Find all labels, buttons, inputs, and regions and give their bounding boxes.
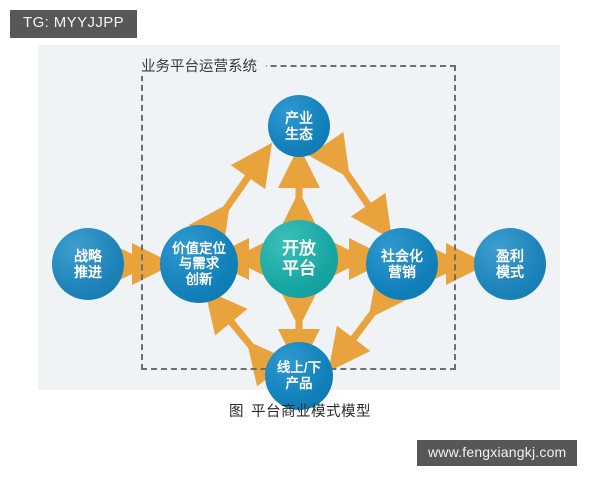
tg-watermark-badge: TG: MYYJJPP [10,10,137,38]
system-boundary-label: 业务平台运营系统 [132,55,266,76]
node-open-platform-label: 开放 平台 [282,239,316,278]
node-industrial-ecology-label: 产业 生态 [285,110,313,142]
node-profit-model[interactable]: 盈利 模式 [474,228,546,300]
node-social-marketing[interactable]: 社会化 营销 [366,228,438,300]
site-watermark-badge: www.fengxiangkj.com [417,440,577,466]
node-industrial-ecology[interactable]: 产业 生态 [268,95,330,157]
figure-panel: 业务平台运营系统 战略 推进 盈利 模式 产业 生态 价值定位 与需求 创新 社… [38,45,560,390]
figure-caption-prefix: 图 [229,404,244,420]
node-online-offline-products-label: 线上/下 产品 [277,360,321,391]
node-value-positioning-label: 价值定位 与需求 创新 [172,241,226,288]
node-strategic-advancement[interactable]: 战略 推进 [52,228,124,300]
node-social-marketing-label: 社会化 营销 [381,248,423,280]
figure-caption-text: 平台商业模式模型 [251,404,371,420]
figure-caption: 图平台商业模式模型 [0,400,600,421]
node-value-positioning[interactable]: 价值定位 与需求 创新 [160,225,238,303]
node-profit-model-label: 盈利 模式 [496,248,524,280]
screenshot-root: TG: MYYJJPP [0,0,600,480]
node-strategic-advancement-label: 战略 推进 [74,248,102,280]
node-open-platform[interactable]: 开放 平台 [260,220,338,298]
